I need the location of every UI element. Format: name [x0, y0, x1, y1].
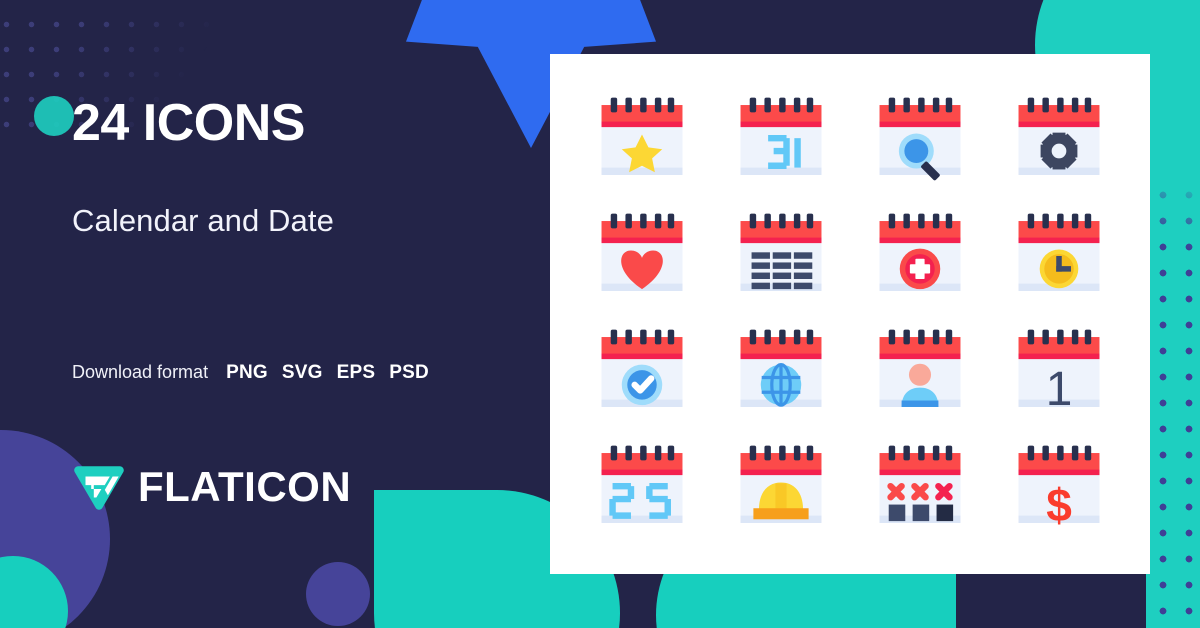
icon-cell[interactable]	[850, 198, 989, 314]
icon-cell[interactable]	[572, 82, 711, 198]
icon-cell[interactable]	[850, 430, 989, 546]
icon-cell[interactable]	[711, 82, 850, 198]
format-png[interactable]: PNG	[226, 362, 268, 384]
icon-cell[interactable]	[850, 82, 989, 198]
calendar-user-icon[interactable]	[874, 326, 966, 418]
calendar-cross-icon[interactable]	[874, 442, 966, 534]
calendar-settings-icon[interactable]	[1013, 94, 1105, 186]
format-psd[interactable]: PSD	[389, 362, 429, 384]
calendar-31-icon[interactable]	[735, 94, 827, 186]
icon-grid: 1	[550, 54, 1150, 574]
icon-cell[interactable]	[850, 314, 989, 430]
icon-cell[interactable]	[572, 430, 711, 546]
flaticon-wordmark: FLATICON	[138, 463, 351, 511]
format-eps[interactable]: EPS	[337, 362, 376, 384]
calendar-globe-icon[interactable]	[735, 326, 827, 418]
teal-circle-top-left-decoration	[34, 96, 74, 136]
icon-cell[interactable]: $	[989, 430, 1128, 546]
page-subtitle: Calendar and Date	[72, 203, 542, 239]
calendar-dollar-icon[interactable]: $	[1013, 442, 1105, 534]
svg-text:$: $	[1046, 479, 1072, 531]
icon-cell[interactable]	[572, 314, 711, 430]
icon-cell[interactable]	[711, 314, 850, 430]
poster-canvas: 24 ICONS Calendar and Date Download form…	[0, 0, 1200, 628]
calendar-schedule-icon[interactable]	[735, 210, 827, 302]
calendar-25-icon[interactable]	[596, 442, 688, 534]
download-format-label: Download format	[72, 362, 208, 383]
icon-cell[interactable]	[572, 198, 711, 314]
flaticon-logo[interactable]: FLATICON	[74, 463, 351, 511]
calendar-heart-icon[interactable]	[596, 210, 688, 302]
icon-cell[interactable]	[989, 82, 1128, 198]
svg-text:1: 1	[1045, 363, 1072, 416]
flaticon-logo-icon	[74, 463, 124, 511]
icon-cell[interactable]	[989, 198, 1128, 314]
dot-pattern-right-decoration	[1146, 178, 1200, 628]
icon-cell[interactable]: 1	[989, 314, 1128, 430]
purple-circle-bottom-decoration	[306, 562, 370, 626]
calendar-medical-icon[interactable]	[874, 210, 966, 302]
icon-cell[interactable]	[711, 198, 850, 314]
calendar-helmet-icon[interactable]	[735, 442, 827, 534]
calendar-search-icon[interactable]	[874, 94, 966, 186]
calendar-check-icon[interactable]	[596, 326, 688, 418]
icon-preview-card: 1	[550, 54, 1150, 574]
calendar-clock-icon[interactable]	[1013, 210, 1105, 302]
download-format-list: PNG SVG EPS PSD	[226, 362, 429, 384]
icon-cell[interactable]	[711, 430, 850, 546]
download-format-row: Download format PNG SVG EPS PSD	[72, 362, 429, 384]
calendar-star-icon[interactable]	[596, 94, 688, 186]
hero-text-block: 24 ICONS Calendar and Date	[72, 96, 542, 239]
calendar-1-icon[interactable]: 1	[1013, 326, 1105, 418]
page-title: 24 ICONS	[72, 96, 542, 151]
format-svg[interactable]: SVG	[282, 362, 323, 384]
